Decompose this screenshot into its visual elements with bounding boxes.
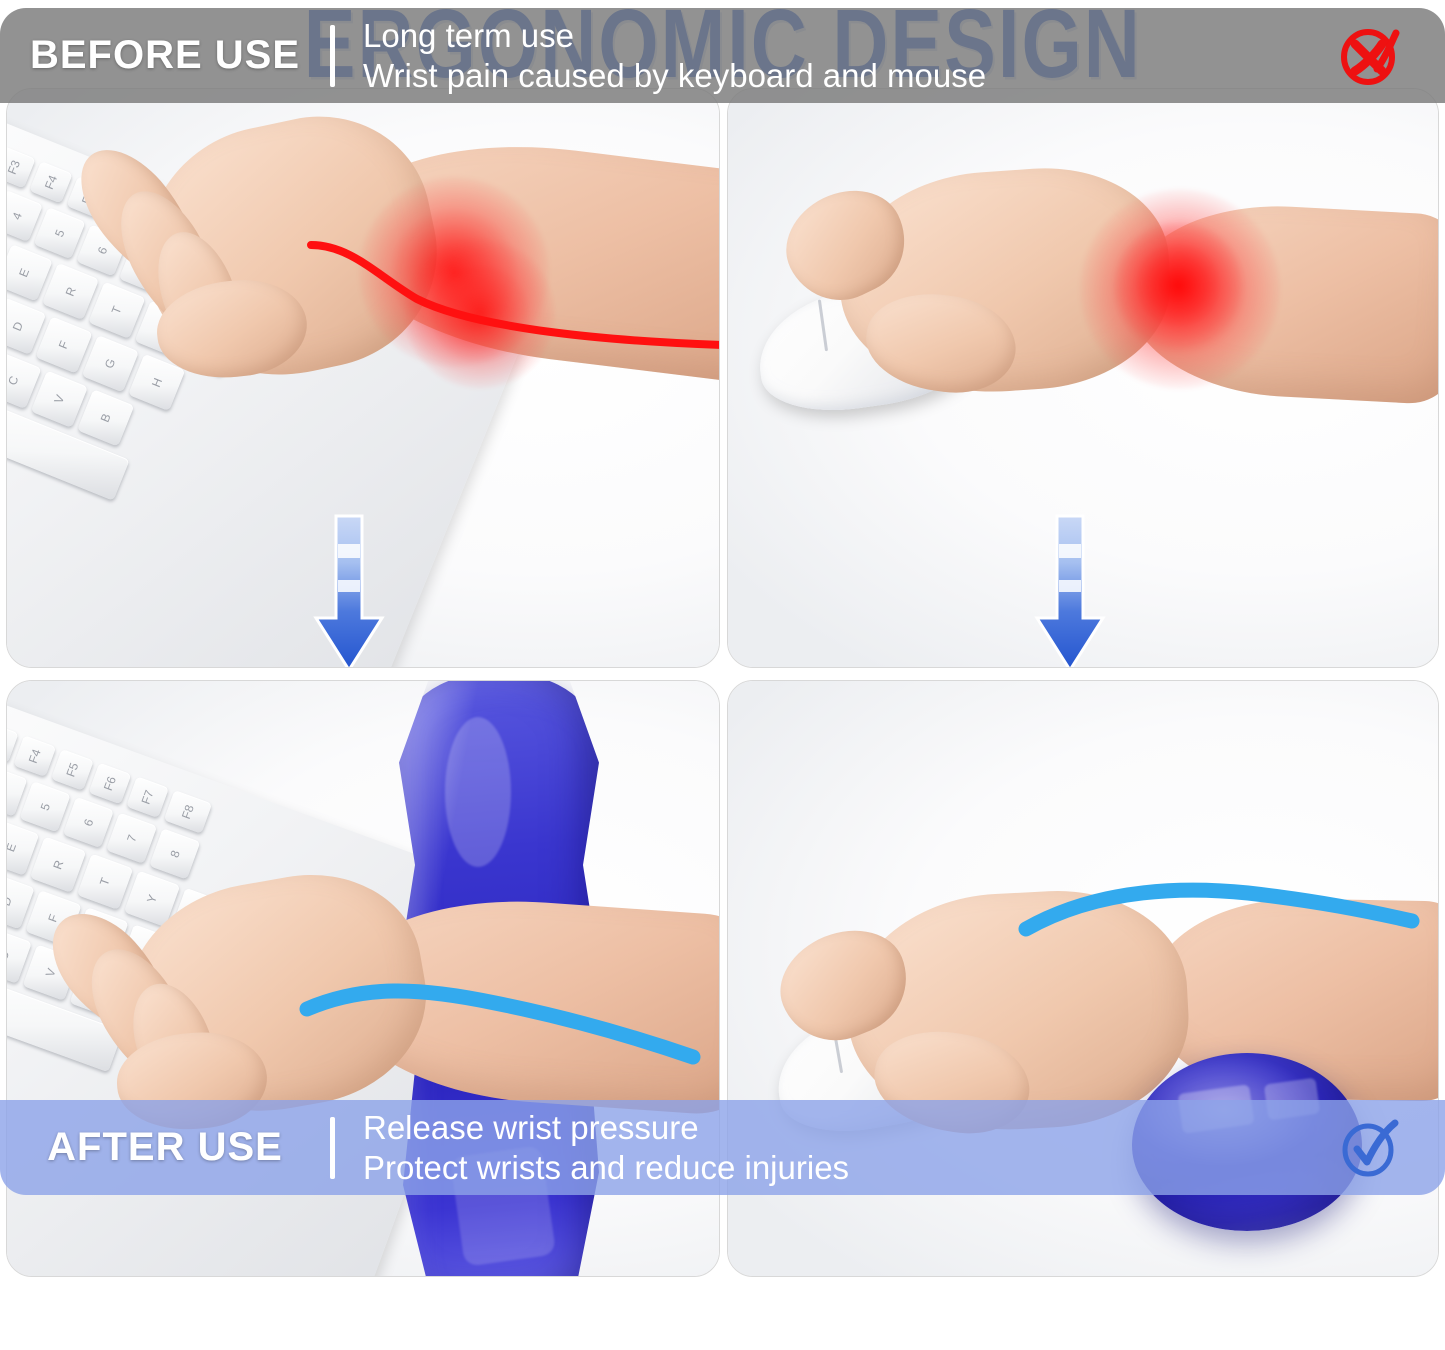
scene-after-mouse xyxy=(728,681,1438,1276)
panel-after-mouse xyxy=(727,680,1439,1277)
panel-after-keyboard: Esc F1 F2 F3 F4 F5 F6 F7 F8 1 2 3 4 5 6 xyxy=(6,680,720,1277)
healthy-wrist-curve xyxy=(299,961,699,1101)
gel-highlight xyxy=(1264,1078,1321,1121)
panel-grid: Esc F1 F2 F3 F4 F5 F6 F7 F8 1 2 3 4 5 6 xyxy=(0,88,1445,1283)
page-title: ERGONOMIC DESIGN xyxy=(303,0,1141,100)
gel-highlight xyxy=(450,1145,556,1267)
gel-highlight xyxy=(445,717,511,867)
title-bar: ERGONOMIC DESIGN xyxy=(0,0,1445,88)
panel-before-mouse xyxy=(727,88,1439,668)
down-arrow-icon xyxy=(312,514,386,667)
scene-before-keyboard: Esc F1 F2 F3 F4 F5 F6 F7 F8 1 2 3 4 5 6 xyxy=(7,89,719,667)
gel-mouse-wrist-pad xyxy=(1132,1053,1362,1231)
scene-after-keyboard: Esc F1 F2 F3 F4 F5 F6 F7 F8 1 2 3 4 5 6 xyxy=(7,681,719,1276)
healthy-wrist-curve xyxy=(1018,871,1418,1001)
scene-before-mouse xyxy=(728,89,1438,667)
pain-glow xyxy=(1114,221,1242,349)
panel-before-keyboard: Esc F1 F2 F3 F4 F5 F6 F7 F8 1 2 3 4 5 6 xyxy=(6,88,720,668)
pain-line xyxy=(307,159,719,349)
down-arrow-icon xyxy=(1033,514,1107,667)
